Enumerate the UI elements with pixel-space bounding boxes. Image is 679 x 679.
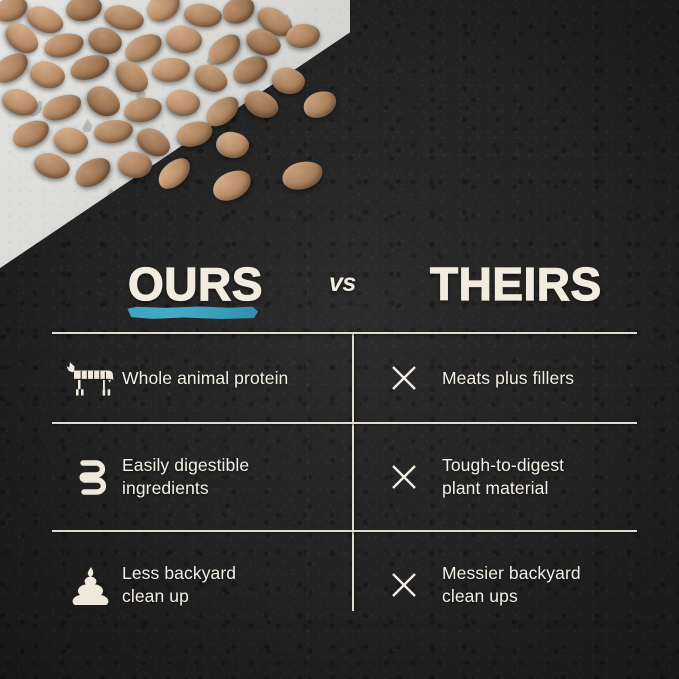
headings: OURS vs THEIRS bbox=[0, 258, 679, 320]
x-mark-icon bbox=[390, 571, 442, 599]
theirs-cell: Meats plus fillers bbox=[352, 334, 637, 422]
ours-cell: Whole animal protein bbox=[52, 334, 352, 422]
theirs-heading: THEIRS bbox=[430, 258, 602, 310]
product-photo bbox=[0, 0, 340, 262]
ours-row-text: Easily digestible ingredients bbox=[122, 454, 249, 500]
table-row: Less backyard clean up Messier backyard … bbox=[52, 532, 637, 638]
theirs-row-text: Tough-to-digest plant material bbox=[442, 454, 564, 500]
table-row: Easily digestible ingredients Tough-to-d… bbox=[52, 424, 637, 530]
poop-icon bbox=[60, 565, 122, 605]
vs-label: vs bbox=[329, 269, 356, 298]
kibble-piece bbox=[279, 157, 325, 193]
theirs-cell: Messier backyard clean ups bbox=[352, 532, 637, 638]
theirs-row-text: Meats plus fillers bbox=[442, 367, 574, 390]
kibble-piece bbox=[208, 165, 256, 207]
brush-underline-accent bbox=[126, 306, 258, 319]
ours-row-text: Whole animal protein bbox=[122, 367, 288, 390]
theirs-row-text: Messier backyard clean ups bbox=[442, 562, 581, 608]
ours-cell: Easily digestible ingredients bbox=[52, 424, 352, 530]
x-mark-icon bbox=[390, 364, 442, 392]
kibble-piece bbox=[214, 130, 250, 160]
kibble-piece bbox=[300, 87, 341, 123]
x-mark-icon bbox=[390, 463, 442, 491]
table-row: Whole animal protein Meats plus fillers bbox=[52, 334, 637, 422]
intestine-icon bbox=[60, 456, 122, 498]
cow-butcher-cuts-icon bbox=[60, 358, 122, 398]
comparison-table: Whole animal protein Meats plus fillers bbox=[52, 332, 637, 638]
ours-heading: OURS bbox=[128, 258, 263, 310]
ours-cell: Less backyard clean up bbox=[52, 532, 352, 638]
comparison-infographic: OURS vs THEIRS bbox=[0, 0, 679, 679]
theirs-cell: Tough-to-digest plant material bbox=[352, 424, 637, 530]
ours-row-text: Less backyard clean up bbox=[122, 562, 236, 608]
